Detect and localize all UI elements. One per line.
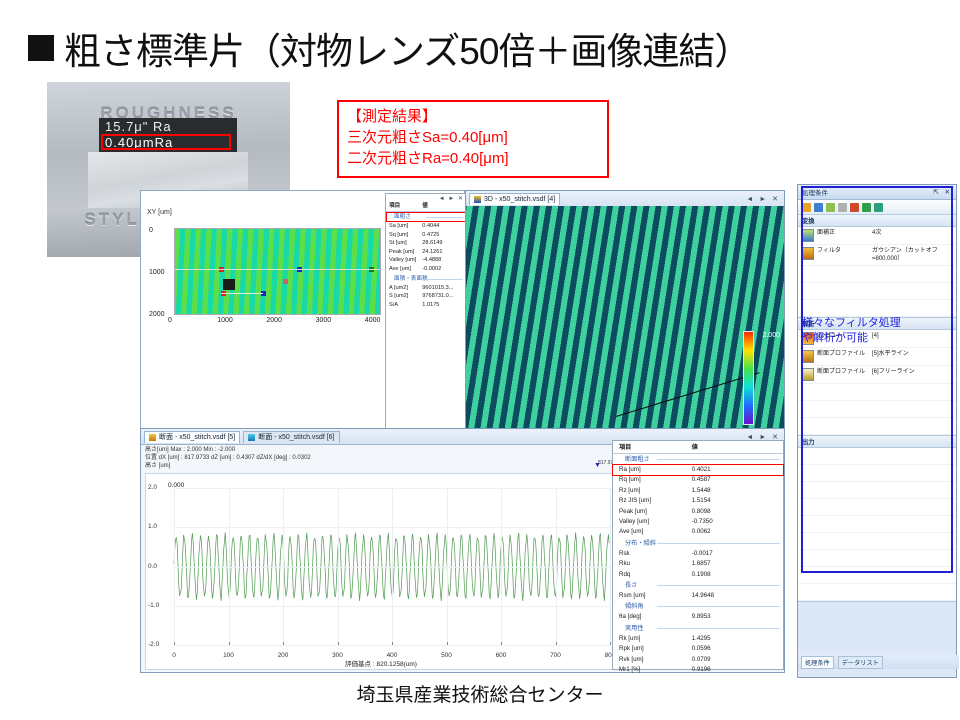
table-row-key: Ra [um] — [619, 465, 692, 475]
xy-free-line — [221, 293, 263, 294]
dock-section-header: 出力 — [798, 436, 956, 448]
table-row-key: A [um2] — [389, 284, 422, 293]
profile-header-line-2: 位置 dX [um] : 817.9733 dZ [um] : 0.4307 d… — [145, 454, 311, 462]
profile-table-header-value: 値 — [692, 442, 777, 453]
table-row-value: -4.4888 — [422, 256, 463, 265]
profile-header-line-3: 高さ [um] — [145, 462, 311, 470]
tab-profile-label: 断面 - x50_stitch.vsdf [6] — [258, 432, 334, 442]
empty-icon — [801, 569, 812, 580]
area-table-header: 項目 値 — [386, 202, 466, 212]
xy-y-tick: 0 — [149, 227, 153, 234]
dock-empty-row[interactable] — [798, 499, 956, 516]
3d-colorbar — [743, 331, 754, 425]
process-conditions-dock[interactable]: 処理条件 ⇱ ✕ 変換面補正4次フィルタガウシアン（カットオフ=800.000）… — [797, 184, 957, 678]
table-section-header: 長さ — [613, 580, 783, 591]
profile-gridline-v — [610, 488, 611, 645]
table-row-value: 1.5448 — [692, 486, 777, 496]
table-row[interactable]: Valley [um]-0.7350 — [613, 517, 783, 527]
table-row-value: 0.9196 — [692, 665, 777, 675]
dock-annotation-note: 様々なフィルタ処理や解析が可能 — [802, 316, 922, 346]
dock-condition-value-line: ガウシアン（カットオフ — [872, 247, 953, 255]
profile-x-tickmark — [174, 642, 175, 645]
table-row-value: -0.7350 — [692, 517, 777, 527]
table-row-key: Rz JIS [um] — [619, 496, 692, 506]
table-row-value: 0.4044 — [422, 222, 463, 231]
save-icon[interactable] — [814, 203, 823, 212]
dock-section-header: 変換 — [798, 215, 956, 227]
dock-condition-value-line: [6]フリーライン — [872, 368, 953, 376]
profile-gridline-v — [283, 488, 284, 645]
xy-x-tick: 0 — [168, 317, 172, 324]
table-row[interactable]: Rsm [um]14.9648 — [613, 591, 783, 601]
slide-root: 粗さ標準片（対物レンズ50倍＋画像連結） ROUGHNESS SPECIMEN … — [0, 0, 960, 720]
table-row-value: 1.6857 — [692, 559, 777, 569]
empty-icon — [801, 552, 812, 563]
surface-icon — [474, 196, 481, 203]
dock-condition-name: 断面プロファイル — [817, 368, 869, 376]
table-row-value: 0.4021 — [692, 465, 777, 475]
profile-trace — [146, 474, 616, 669]
profile-gridline-h — [174, 645, 610, 646]
dock-empty-row[interactable] — [798, 266, 956, 283]
table-row-key: Rq [um] — [619, 475, 692, 485]
profile-gridline-v — [501, 488, 502, 645]
dock-empty-row[interactable] — [798, 300, 956, 317]
xy-y-tick: 2000 — [149, 311, 165, 318]
dock-condition-value-line: [5]水平ライン — [872, 350, 953, 358]
empty-icon — [801, 268, 812, 279]
profile-x-tickmark — [283, 642, 284, 645]
table-row-key: Sq [um] — [389, 231, 422, 240]
profile-chart[interactable]: 0.000 評価基点 : 820.1258(um) 2.01.00.0-1.0-… — [145, 473, 617, 670]
table-row-value: 0.8098 — [692, 507, 777, 517]
empty-icon — [801, 586, 812, 597]
profile-x-tickmark — [447, 642, 448, 645]
profile-x-tickmark — [501, 642, 502, 645]
table-section-header: 面粗さ — [386, 212, 466, 222]
profile-header-line-1: 高さ[um] Max : 2.000 Min : -2.000 — [145, 446, 311, 454]
table-row[interactable]: Peak [um]0.8098 — [613, 507, 783, 517]
profile-x-tickmark — [338, 642, 339, 645]
table-row[interactable]: Rvk [um]0.0709 — [613, 655, 783, 665]
table-row-value: 9.8953 — [692, 612, 777, 622]
profile-y-tick: -2.0 — [148, 641, 159, 648]
profile-x-tick: 200 — [278, 652, 289, 659]
table-row-key: Rku — [619, 559, 692, 569]
area-table-window-buttons[interactable]: ◄ ► ✕ — [386, 194, 466, 202]
profile-x-tick: 0 — [172, 652, 176, 659]
profile-x-tick: 300 — [332, 652, 343, 659]
table-row[interactable]: Rsk-0.0017 — [613, 549, 783, 559]
table-row[interactable]: Rz JIS [um]1.5154 — [613, 496, 783, 506]
table-row-key: Valley [um] — [619, 517, 692, 527]
photo-highlight-box — [101, 134, 231, 150]
xy-label-box — [223, 279, 235, 290]
section-profile-icon — [801, 350, 814, 363]
table-row-value: 1.5154 — [692, 496, 777, 506]
xy-axis-title: XY [um] — [147, 209, 172, 216]
profile-y-tick: 1.0 — [148, 523, 157, 530]
table-row[interactable]: Ra [um]0.4021 — [613, 465, 783, 475]
section-highlight-box — [386, 212, 466, 222]
tab-profile-2[interactable]: 断面 - x50_stitch.vsdf [6] — [243, 431, 339, 443]
table-row-key: Rsk — [619, 549, 692, 559]
dock-toolbar[interactable] — [798, 200, 956, 215]
xy-heightmap[interactable] — [174, 228, 381, 315]
table-row-value: 0.4725 — [422, 231, 463, 240]
table-row-key: St [um] — [389, 239, 422, 248]
profile-gridline-v — [447, 488, 448, 645]
table-row-key: S/A — [389, 301, 422, 310]
dock-condition-row[interactable]: 面補正4次 — [798, 227, 956, 245]
dock-empty-row[interactable] — [798, 533, 956, 550]
profile-x-tickmark — [556, 642, 557, 645]
dock-condition-value: 4次 — [872, 229, 953, 237]
dock-titlebar: 処理条件 ⇱ ✕ — [798, 185, 956, 200]
dock-condition-name: 面補正 — [817, 229, 869, 237]
empty-icon — [801, 467, 812, 478]
table-row-value: 24.1261 — [422, 248, 463, 257]
profile-header-info: 高さ[um] Max : 2.000 Min : -2.000 位置 dX [u… — [145, 446, 311, 470]
table-row-key: Ave [um] — [389, 265, 422, 274]
dock-empty-row[interactable] — [798, 418, 956, 435]
3d-colorbar-max: 2.000 — [762, 332, 780, 339]
table-row[interactable]: Sq [um]0.4725 — [386, 231, 466, 240]
photo-spec-label-line1: 15.7μ" Ra — [105, 119, 237, 135]
dock-annotation-line: や解析が可能 — [802, 331, 922, 346]
dock-empty-row[interactable] — [798, 516, 956, 533]
table-row[interactable]: Sa [um]0.4044 — [386, 222, 466, 231]
table-row[interactable]: St [um]28.6149 — [386, 239, 466, 248]
tab-profile-label: 断面 - x50_stitch.vsdf [5] — [159, 432, 235, 442]
table-row-key: Rsm [um] — [619, 591, 692, 601]
table-row-key: Rdq — [619, 570, 692, 580]
table-section-header: 断面粗さ — [613, 454, 783, 465]
area-table-body: 面粗さSa [um]0.4044Sq [um]0.4725St [um]28.6… — [386, 212, 466, 309]
profile-gridline-v — [338, 488, 339, 645]
profile-gridline-v — [556, 488, 557, 645]
profile-roughness-table[interactable]: 項目 値 断面粗さRa [um]0.4021Rq [um]0.4587Rz [u… — [612, 440, 784, 670]
refresh-icon[interactable] — [874, 203, 883, 212]
table-row[interactable]: Peak [um]24.1261 — [386, 248, 466, 257]
free-line-icon — [801, 368, 814, 381]
profile-x-tickmark — [610, 642, 611, 645]
tab-3d-view[interactable]: 3D - x50_stitch.vsdf [4] — [469, 193, 560, 205]
dock-bottom-tabs[interactable]: 処理条件データリスト — [798, 655, 959, 669]
table-row-key: Sa [um] — [389, 222, 422, 231]
table-row-key: Ave [um] — [619, 527, 692, 537]
dock-empty-row[interactable] — [798, 283, 956, 300]
dock-condition-value: [6]フリーライン — [872, 368, 953, 376]
table-row-value: 9768731.0... — [422, 292, 463, 301]
dock-condition-name: フィルタ — [817, 247, 869, 255]
profile-table-body: 断面粗さRa [um]0.4021Rq [um]0.4587Rz [um]1.5… — [613, 454, 783, 676]
footer-organization: 埼玉県産業技術総合センター — [0, 680, 960, 707]
empty-icon — [801, 518, 812, 529]
callout-line-2: 三次元粗さSa=0.40[μm] — [347, 127, 599, 148]
filter-icon — [801, 247, 814, 260]
dock-empty-row[interactable] — [798, 448, 956, 465]
profile-x-caption: 評価基点 : 820.1258(um) — [146, 658, 616, 668]
xy-y-tick: 1000 — [149, 269, 165, 276]
table-row-key: Rz [um] — [619, 486, 692, 496]
empty-icon — [801, 386, 812, 397]
xy-x-tick: 1000 — [217, 317, 233, 324]
table-row-key: Rvk [um] — [619, 655, 692, 665]
table-row-value: 0.0596 — [692, 644, 777, 654]
table-row[interactable]: S [um2]9768731.0... — [386, 292, 466, 301]
table-row-key: Rk [um] — [619, 634, 692, 644]
area-roughness-table[interactable]: ◄ ► ✕ 項目 値 面粗さSa [um]0.4044Sq [um]0.4725… — [385, 193, 467, 440]
dock-condition-name: 断面プロファイル — [817, 350, 869, 358]
dock-empty-row[interactable] — [798, 550, 956, 567]
dock-section-list: 面補正4次フィルタガウシアン（カットオフ=800.000） — [798, 227, 956, 318]
table-row[interactable]: θa [deg]9.8953 — [613, 612, 783, 622]
3d-window-tabbar: 3D - x50_stitch.vsdf [4] ◄ ► ✕ — [466, 191, 784, 207]
dock-pin-close-buttons[interactable]: ⇱ ✕ — [933, 188, 952, 196]
surface-3d-window[interactable]: 3D - x50_stitch.vsdf [4] ◄ ► ✕ 2.000 -2.… — [465, 190, 785, 440]
area-table-header-item: 項目 — [389, 202, 422, 211]
surface-correction-icon — [801, 229, 814, 242]
profile-x-tick: 700 — [550, 652, 561, 659]
table-row-key: Peak [um] — [389, 248, 422, 257]
page-title: 粗さ標準片（対物レンズ50倍＋画像連結） — [28, 22, 928, 74]
table-row-value: 0.0709 — [692, 655, 777, 665]
dock-tab-2[interactable]: データリスト — [838, 656, 883, 669]
table-row-value: 1.0175 — [422, 301, 463, 310]
dock-empty-row[interactable] — [798, 465, 956, 482]
dock-empty-row[interactable] — [798, 384, 956, 401]
profile-table-header: 項目 値 — [613, 441, 783, 454]
table-row[interactable]: A [um2]9601015.3... — [386, 284, 466, 293]
dock-section-list — [798, 448, 956, 602]
page-title-text: 粗さ標準片（対物レンズ50倍＋画像連結） — [64, 21, 750, 75]
dock-empty-row[interactable] — [798, 567, 956, 584]
dock-empty-row[interactable] — [798, 482, 956, 499]
profile-y-tick: 0.0 — [148, 563, 157, 570]
table-row-value: 28.6149 — [422, 239, 463, 248]
tab-3d-view-label: 3D - x50_stitch.vsdf [4] — [484, 196, 555, 203]
dock-title-label: 処理条件 — [802, 187, 828, 197]
xy-x-tick: 3000 — [316, 317, 332, 324]
profile-marker-arrow-icon: ▼ — [594, 462, 601, 469]
table-row-value: -0.0017 — [692, 549, 777, 559]
dock-empty-row[interactable] — [798, 584, 956, 601]
table-row-value: -0.0002 — [422, 265, 463, 274]
table-row-key: θa [deg] — [619, 612, 692, 622]
table-row-key: Mr1 [%] — [619, 665, 692, 675]
callout-line-3: 二次元粗さRa=0.40[μm] — [347, 148, 599, 169]
dock-empty-row[interactable] — [798, 401, 956, 418]
table-row[interactable]: Rdq0.1908 — [613, 570, 783, 580]
profile-x-tickmark — [392, 642, 393, 645]
dock-condition-value-line: =800.000） — [872, 255, 953, 263]
empty-icon — [801, 535, 812, 546]
open-icon[interactable] — [802, 203, 811, 212]
table-row-key: Rpk [um] — [619, 644, 692, 654]
table-row[interactable]: Ave [um]0.0062 — [613, 527, 783, 537]
dock-condition-value: [5]水平ライン — [872, 350, 953, 358]
xy-x-tick: 4000 — [365, 317, 381, 324]
table-row[interactable]: Rpk [um]0.0596 — [613, 644, 783, 654]
3d-window-buttons[interactable]: ◄ ► ✕ — [746, 195, 784, 203]
profile-x-tick: 600 — [496, 652, 507, 659]
xy-horizontal-line — [175, 269, 380, 270]
table-row-value: 14.9648 — [692, 591, 777, 601]
table-row[interactable]: Rz [um]1.5448 — [613, 486, 783, 496]
empty-icon — [801, 501, 812, 512]
table-row-value: 0.0062 — [692, 527, 777, 537]
measurement-result-callout: 【測定結果】 三次元粗さSa=0.40[μm] 二次元粗さRa=0.40[μm] — [337, 100, 609, 178]
xy-marker-pink-1[interactable] — [283, 279, 288, 284]
table-row-value: 0.1908 — [692, 570, 777, 580]
table-row[interactable]: Rq [um]0.4587 — [613, 475, 783, 485]
table-row[interactable]: Rku1.6857 — [613, 559, 783, 569]
dock-condition-value: ガウシアン（カットオフ=800.000） — [872, 247, 953, 263]
table-section-header: 面積・表面積 — [386, 274, 466, 284]
dock-condition-value-line: 4次 — [872, 229, 953, 237]
table-row-value: 9601015.3... — [422, 284, 463, 293]
table-row[interactable]: Ave [um]-0.0002 — [386, 265, 466, 274]
table-row-value: 1.4295 — [692, 634, 777, 644]
3d-surface-render[interactable]: 2.000 -2.000 — [466, 206, 784, 439]
undo-icon[interactable] — [826, 203, 835, 212]
area-table-header-value: 値 — [422, 202, 463, 211]
table-section-header: 傾斜角 — [613, 601, 783, 612]
empty-icon — [801, 403, 812, 414]
empty-icon — [801, 302, 812, 313]
profile-gridline-v — [392, 488, 393, 645]
tab-profile-1[interactable]: 断面 - x50_stitch.vsdf [5] — [144, 431, 240, 443]
section-profile-icon — [149, 434, 156, 441]
section-profile-icon — [248, 434, 255, 441]
dock-condition-row[interactable]: 断面プロファイル[6]フリーライン — [798, 366, 956, 384]
apply-icon[interactable] — [862, 203, 871, 212]
table-row-value: 0.4587 — [692, 475, 777, 485]
table-section-header: 分布・傾斜 — [613, 538, 783, 549]
xy-x-tick: 2000 — [266, 317, 282, 324]
dock-sections: 変換面補正4次フィルタガウシアン（カットオフ=800.000）解析3Dビュー[4… — [798, 215, 956, 602]
profile-gridline-v — [229, 488, 230, 645]
profile-x-tickmark — [229, 642, 230, 645]
empty-icon — [801, 450, 812, 461]
dock-condition-row[interactable]: フィルタガウシアン（カットオフ=800.000） — [798, 245, 956, 266]
redo-icon[interactable] — [838, 203, 847, 212]
dock-annotation-line: 様々なフィルタ処理 — [802, 316, 922, 331]
profile-y-tick: 2.0 — [148, 484, 157, 491]
profile-x-tick: 100 — [223, 652, 234, 659]
table-row[interactable]: Rk [um]1.4295 — [613, 634, 783, 644]
table-row-key: Valley [um] — [389, 256, 422, 265]
empty-icon — [801, 420, 812, 431]
profile-y-tick: -1.0 — [148, 602, 159, 609]
empty-icon — [801, 285, 812, 296]
dock-condition-row[interactable]: 断面プロファイル[5]水平ライン — [798, 348, 956, 366]
table-row[interactable]: Valley [um]-4.4888 — [386, 256, 466, 265]
3d-stripe-pattern — [466, 206, 784, 439]
table-row-key: Peak [um] — [619, 507, 692, 517]
empty-icon — [801, 484, 812, 495]
profile-gridline-v — [174, 488, 175, 645]
profile-x-tick: 400 — [387, 652, 398, 659]
bullet-square-icon — [28, 35, 54, 61]
xy-stripe-pattern — [175, 229, 380, 314]
profile-x-tick: 500 — [441, 652, 452, 659]
callout-line-1: 【測定結果】 — [347, 106, 599, 127]
table-row-key: S [um2] — [389, 292, 422, 301]
table-section-header: 実用性 — [613, 623, 783, 634]
profile-table-header-item: 項目 — [619, 442, 692, 453]
table-row[interactable]: S/A1.0175 — [386, 301, 466, 310]
table-row[interactable]: Mr1 [%]0.9196 — [613, 665, 783, 675]
delete-icon[interactable] — [850, 203, 859, 212]
dock-tab-1[interactable]: 処理条件 — [801, 656, 834, 669]
